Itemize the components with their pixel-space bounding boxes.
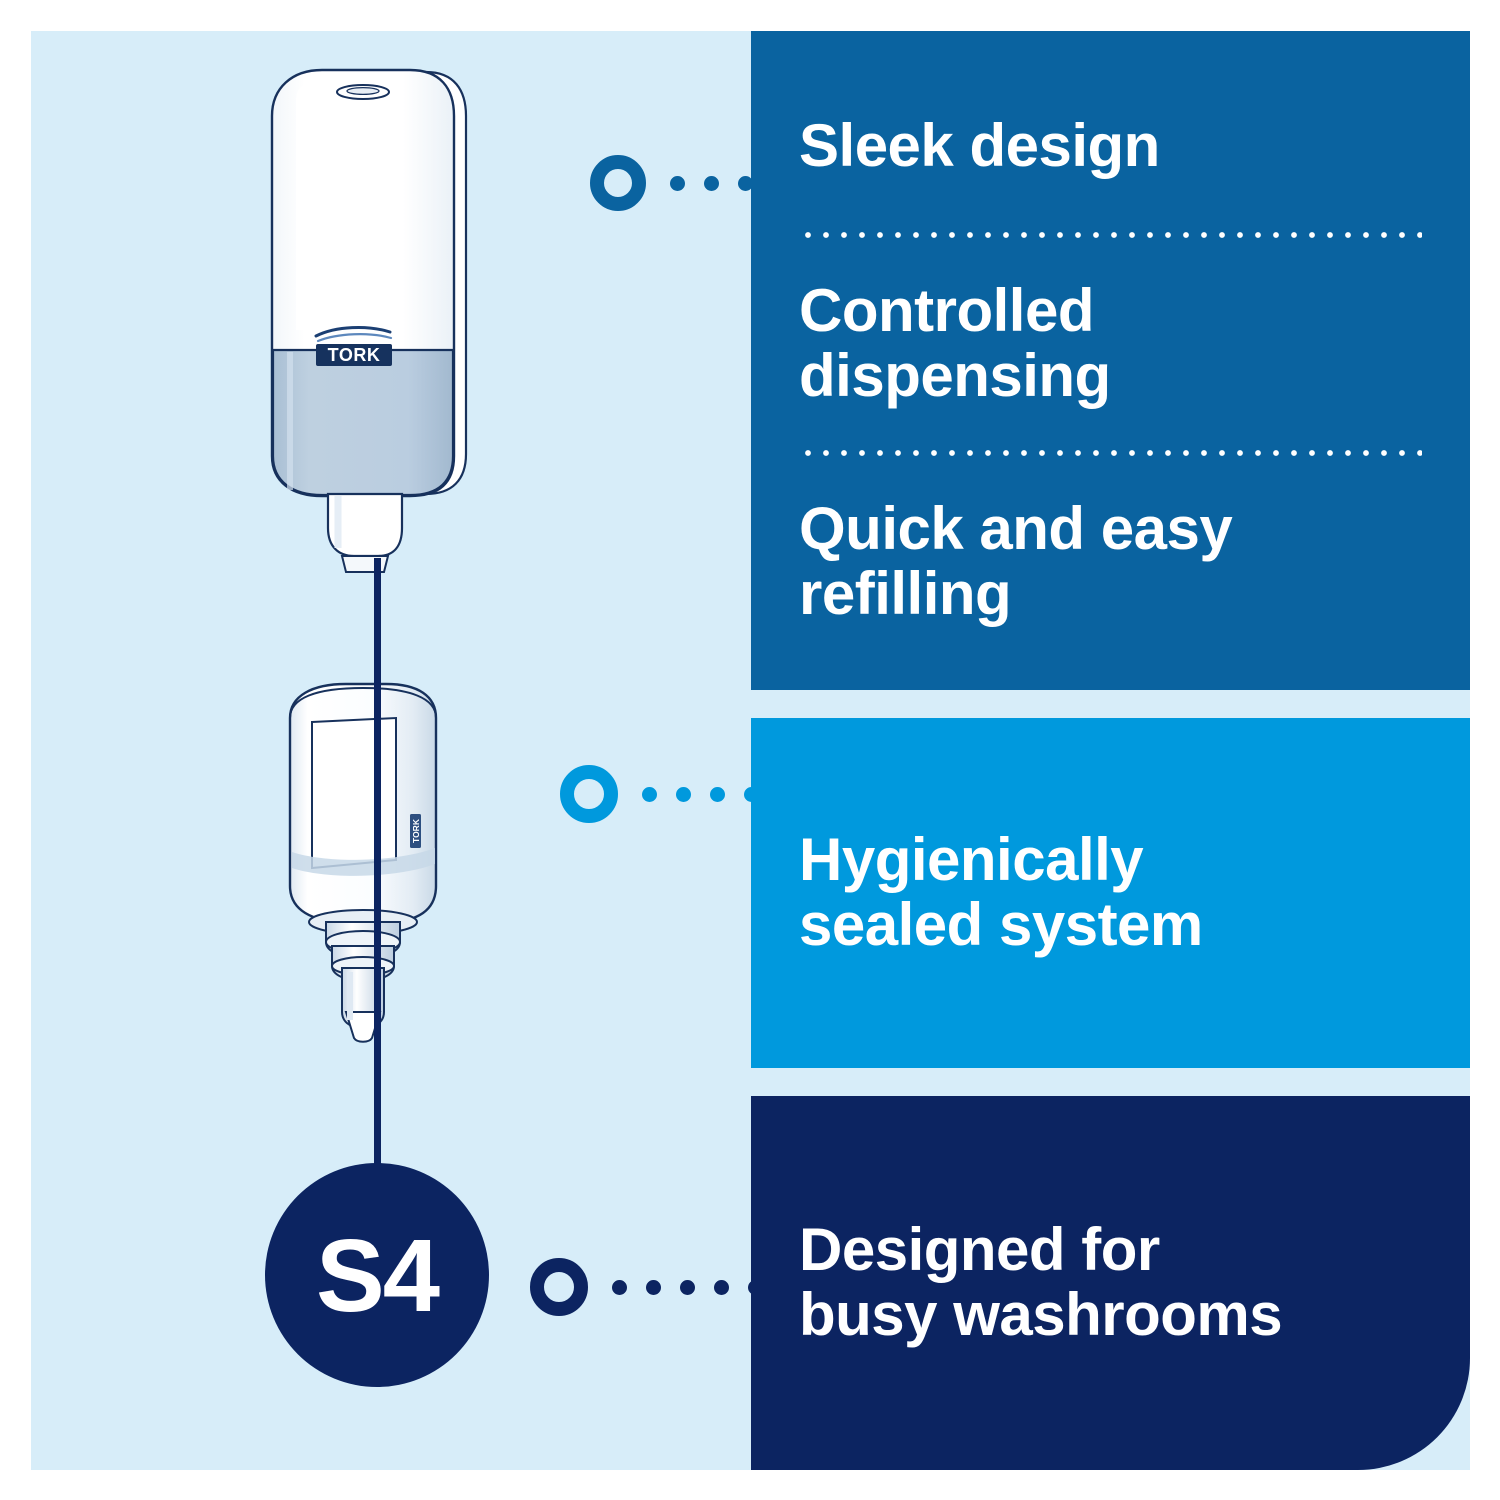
feature-headline-line1: Designed for	[799, 1216, 1160, 1283]
connector-spine-middle	[374, 676, 381, 1066]
feature-sleek-design: Sleek design	[799, 63, 1422, 231]
feature-headline-line2: busy washrooms	[799, 1281, 1282, 1348]
connector-dot	[704, 176, 719, 191]
feature-quick-easy-refilling: Quick and easy refilling	[799, 457, 1422, 667]
feature-infographic: TORK	[0, 0, 1500, 1500]
feature-panel-tertiary: Designed for busy washrooms	[751, 1096, 1470, 1470]
svg-text:TORK: TORK	[328, 345, 381, 365]
feature-headline-line1: Hygienically	[799, 826, 1143, 893]
connector-dot	[612, 1280, 627, 1295]
dotted-divider	[799, 231, 1422, 239]
feature-panel-primary: Sleek design Controlled dispensing Quick…	[751, 31, 1470, 690]
connector-spine-lower	[374, 1022, 381, 1182]
svg-text:TORK: TORK	[411, 818, 421, 843]
connector-ring-icon	[560, 765, 618, 823]
feature-panel-secondary: Hygienically sealed system	[751, 718, 1470, 1068]
system-badge-s4: S4	[265, 1163, 489, 1387]
connector-dot	[714, 1280, 729, 1295]
feature-headline: Quick and easy refilling	[799, 497, 1422, 627]
feature-headline-line1: Controlled	[799, 277, 1094, 344]
connector-spine-upper	[374, 558, 381, 678]
feature-headline: Hygienically sealed system	[799, 828, 1422, 958]
connector-dot	[710, 787, 725, 802]
dotted-divider	[799, 449, 1422, 457]
feature-headline: Sleek design	[799, 114, 1422, 179]
tork-logo-mark-small: TORK	[410, 814, 421, 848]
feature-headline: Controlled dispensing	[799, 279, 1422, 409]
connector-ring-icon	[590, 155, 646, 211]
connector-dot	[646, 1280, 661, 1295]
connector-dot	[670, 176, 685, 191]
connector-dot	[642, 787, 657, 802]
feature-headline-line1: Quick and easy	[799, 495, 1232, 562]
connector-dot	[680, 1280, 695, 1295]
feature-controlled-dispensing: Controlled dispensing	[799, 239, 1422, 449]
connector-dot	[676, 787, 691, 802]
feature-headline-line2: dispensing	[799, 342, 1111, 409]
feature-headline-line2: sealed system	[799, 891, 1203, 958]
feature-headline-line2: refilling	[799, 560, 1011, 627]
connector-ring-icon	[530, 1258, 588, 1316]
tork-dispenser-illustration: TORK	[250, 60, 490, 600]
tork-refill-cartridge-illustration: TORK	[268, 660, 458, 1060]
feature-headline: Designed for busy washrooms	[799, 1218, 1422, 1348]
system-badge-label: S4	[316, 1224, 438, 1327]
